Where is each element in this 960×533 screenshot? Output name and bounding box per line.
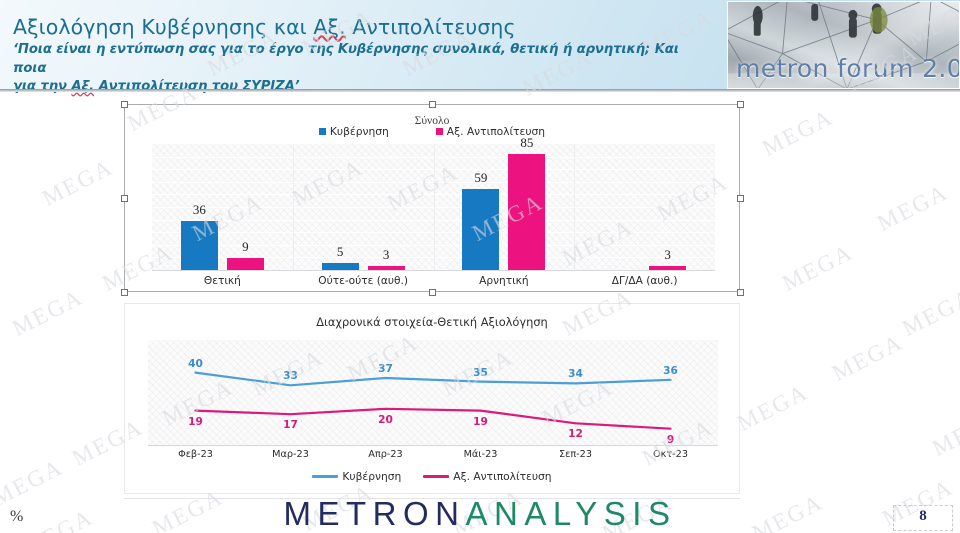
category-label: ΔΓ/ΔΑ (αυθ.) <box>574 275 715 287</box>
point-value-label: 12 <box>554 428 598 440</box>
point-value-label: 37 <box>364 363 408 375</box>
header-divider <box>0 89 960 92</box>
bar-value-label: 5 <box>316 244 365 260</box>
category-label: Αρνητική <box>434 275 575 287</box>
brand-analysis: ANALYSIS <box>466 495 677 532</box>
resize-handle[interactable] <box>121 195 128 202</box>
point-value-label: 34 <box>554 368 598 380</box>
bar-chart-x-axis <box>152 270 715 271</box>
resize-handle[interactable] <box>121 289 128 296</box>
x-axis-label: Απρ-23 <box>346 449 426 460</box>
bar-chart-legend: ΚυβέρνησηΑξ. Αντιπολίτευση <box>125 125 739 138</box>
point-value-label: 20 <box>364 414 408 426</box>
legend-swatch-icon <box>436 128 443 135</box>
legend-item-opposition[interactable]: Αξ. Αντιπολίτευση <box>423 470 551 483</box>
category-separator <box>574 144 575 270</box>
resize-handle[interactable] <box>429 289 436 296</box>
metron-analysis-wordmark: METRONANALYSIS <box>0 495 960 533</box>
point-value-label: 33 <box>269 370 313 382</box>
watermark-text: MEGA <box>873 179 952 237</box>
category-label: Ούτε-ούτε (αυθ.) <box>293 275 434 287</box>
point-value-label: 17 <box>269 419 313 431</box>
bar-value-label: 3 <box>643 247 692 263</box>
x-axis-label: Φεβ-23 <box>156 449 236 460</box>
category-separator <box>434 144 435 270</box>
watermark-text: MEGA <box>898 284 960 342</box>
bar-opposition[interactable] <box>227 258 264 270</box>
watermark-text: MEGA <box>828 329 907 387</box>
bar-chart-selection-frame[interactable]: Σύνολο ΚυβέρνησηΑξ. Αντιπολίτευση 369Θετ… <box>124 104 740 292</box>
category-separator <box>293 144 294 270</box>
bar-opposition[interactable] <box>508 154 545 270</box>
watermark-text: MEGA <box>8 284 87 342</box>
watermark-text: MEGA <box>928 404 960 462</box>
point-value-label: 9 <box>649 434 693 446</box>
resize-handle[interactable] <box>121 101 128 108</box>
metron-forum-logo: metron forum 2.0 <box>727 1 960 89</box>
legend-label: Κυβέρνηση <box>330 125 389 138</box>
line-chart-x-axis <box>148 445 718 446</box>
x-axis-label: Μαρ-23 <box>251 449 331 460</box>
line-series-government[interactable] <box>196 373 671 386</box>
brand-metron: METRON <box>284 495 466 532</box>
slide-header: Αξιολόγηση Κυβέρνησης και Αξ. Αντιπολίτε… <box>0 0 960 89</box>
watermark-text: MEGA <box>38 154 117 212</box>
legend-swatch-icon <box>319 128 326 135</box>
legend-item-government[interactable]: Κυβέρνηση <box>319 125 389 138</box>
bar-value-label: 36 <box>175 202 224 218</box>
resize-handle[interactable] <box>737 289 744 296</box>
x-axis-label: Σεπ-23 <box>536 449 616 460</box>
bar-value-label: 9 <box>221 239 270 255</box>
category-label: Θετική <box>152 275 293 287</box>
point-value-label: 19 <box>174 416 218 428</box>
point-value-label: 36 <box>649 365 693 377</box>
bar-value-label: 85 <box>502 135 551 151</box>
point-value-label: 40 <box>174 358 218 370</box>
page-title: Αξιολόγηση Κυβέρνησης και Αξ. Αντιπολίτε… <box>13 16 713 40</box>
legend-label: Κυβέρνηση <box>342 470 401 483</box>
watermark-text: MEGA <box>733 379 812 437</box>
legend-label: Αξ. Αντιπολίτευση <box>453 470 551 483</box>
bar-value-label: 3 <box>362 247 411 263</box>
line-chart-legend: ΚυβέρνησηΑξ. Αντιπολίτευση <box>125 470 739 483</box>
watermark-text: MEGA <box>758 104 837 162</box>
page-subtitle-line-1: ‘Ποια είναι η εντύπωση σας για το έργο τ… <box>13 41 713 78</box>
logo-wordmark: metron forum 2.0 <box>736 54 955 83</box>
bar-government[interactable] <box>181 221 218 270</box>
x-axis-label: Μάι-23 <box>441 449 521 460</box>
bar-government[interactable] <box>462 189 499 270</box>
page-number: 8 <box>893 508 953 525</box>
legend-line-icon <box>312 475 338 478</box>
bar-value-label: 59 <box>456 170 505 186</box>
line-chart-title: Διαχρονικά στοιχεία-Θετική Αξιολόγηση <box>125 315 739 329</box>
watermark-text: MEGA <box>778 239 857 297</box>
bar-government[interactable] <box>322 263 359 270</box>
page-subtitle-line-2: για την Αξ. Αντιπολίτευση του ΣΥΡΙΖΑ’ <box>13 78 713 97</box>
resize-handle[interactable] <box>429 101 436 108</box>
resize-handle[interactable] <box>737 195 744 202</box>
point-value-label: 19 <box>459 416 503 428</box>
bar-chart-container[interactable]: Σύνολο ΚυβέρνησηΑξ. Αντιπολίτευση 369Θετ… <box>124 104 740 292</box>
legend-item-government[interactable]: Κυβέρνηση <box>312 470 401 483</box>
legend-line-icon <box>423 475 449 478</box>
line-chart-series-paths <box>148 340 718 445</box>
x-axis-label: Οκτ-23 <box>631 449 711 460</box>
line-chart-plot-area <box>148 340 718 445</box>
resize-handle[interactable] <box>737 101 744 108</box>
page-title-text: Αξιολόγηση Κυβέρνησης και Αξ. Αντιπολίτε… <box>13 15 516 39</box>
line-chart-container[interactable]: Διαχρονικά στοιχεία-Θετική Αξιολόγηση Κυ… <box>124 303 740 494</box>
point-value-label: 35 <box>459 367 503 379</box>
line-series-opposition[interactable] <box>196 409 671 429</box>
